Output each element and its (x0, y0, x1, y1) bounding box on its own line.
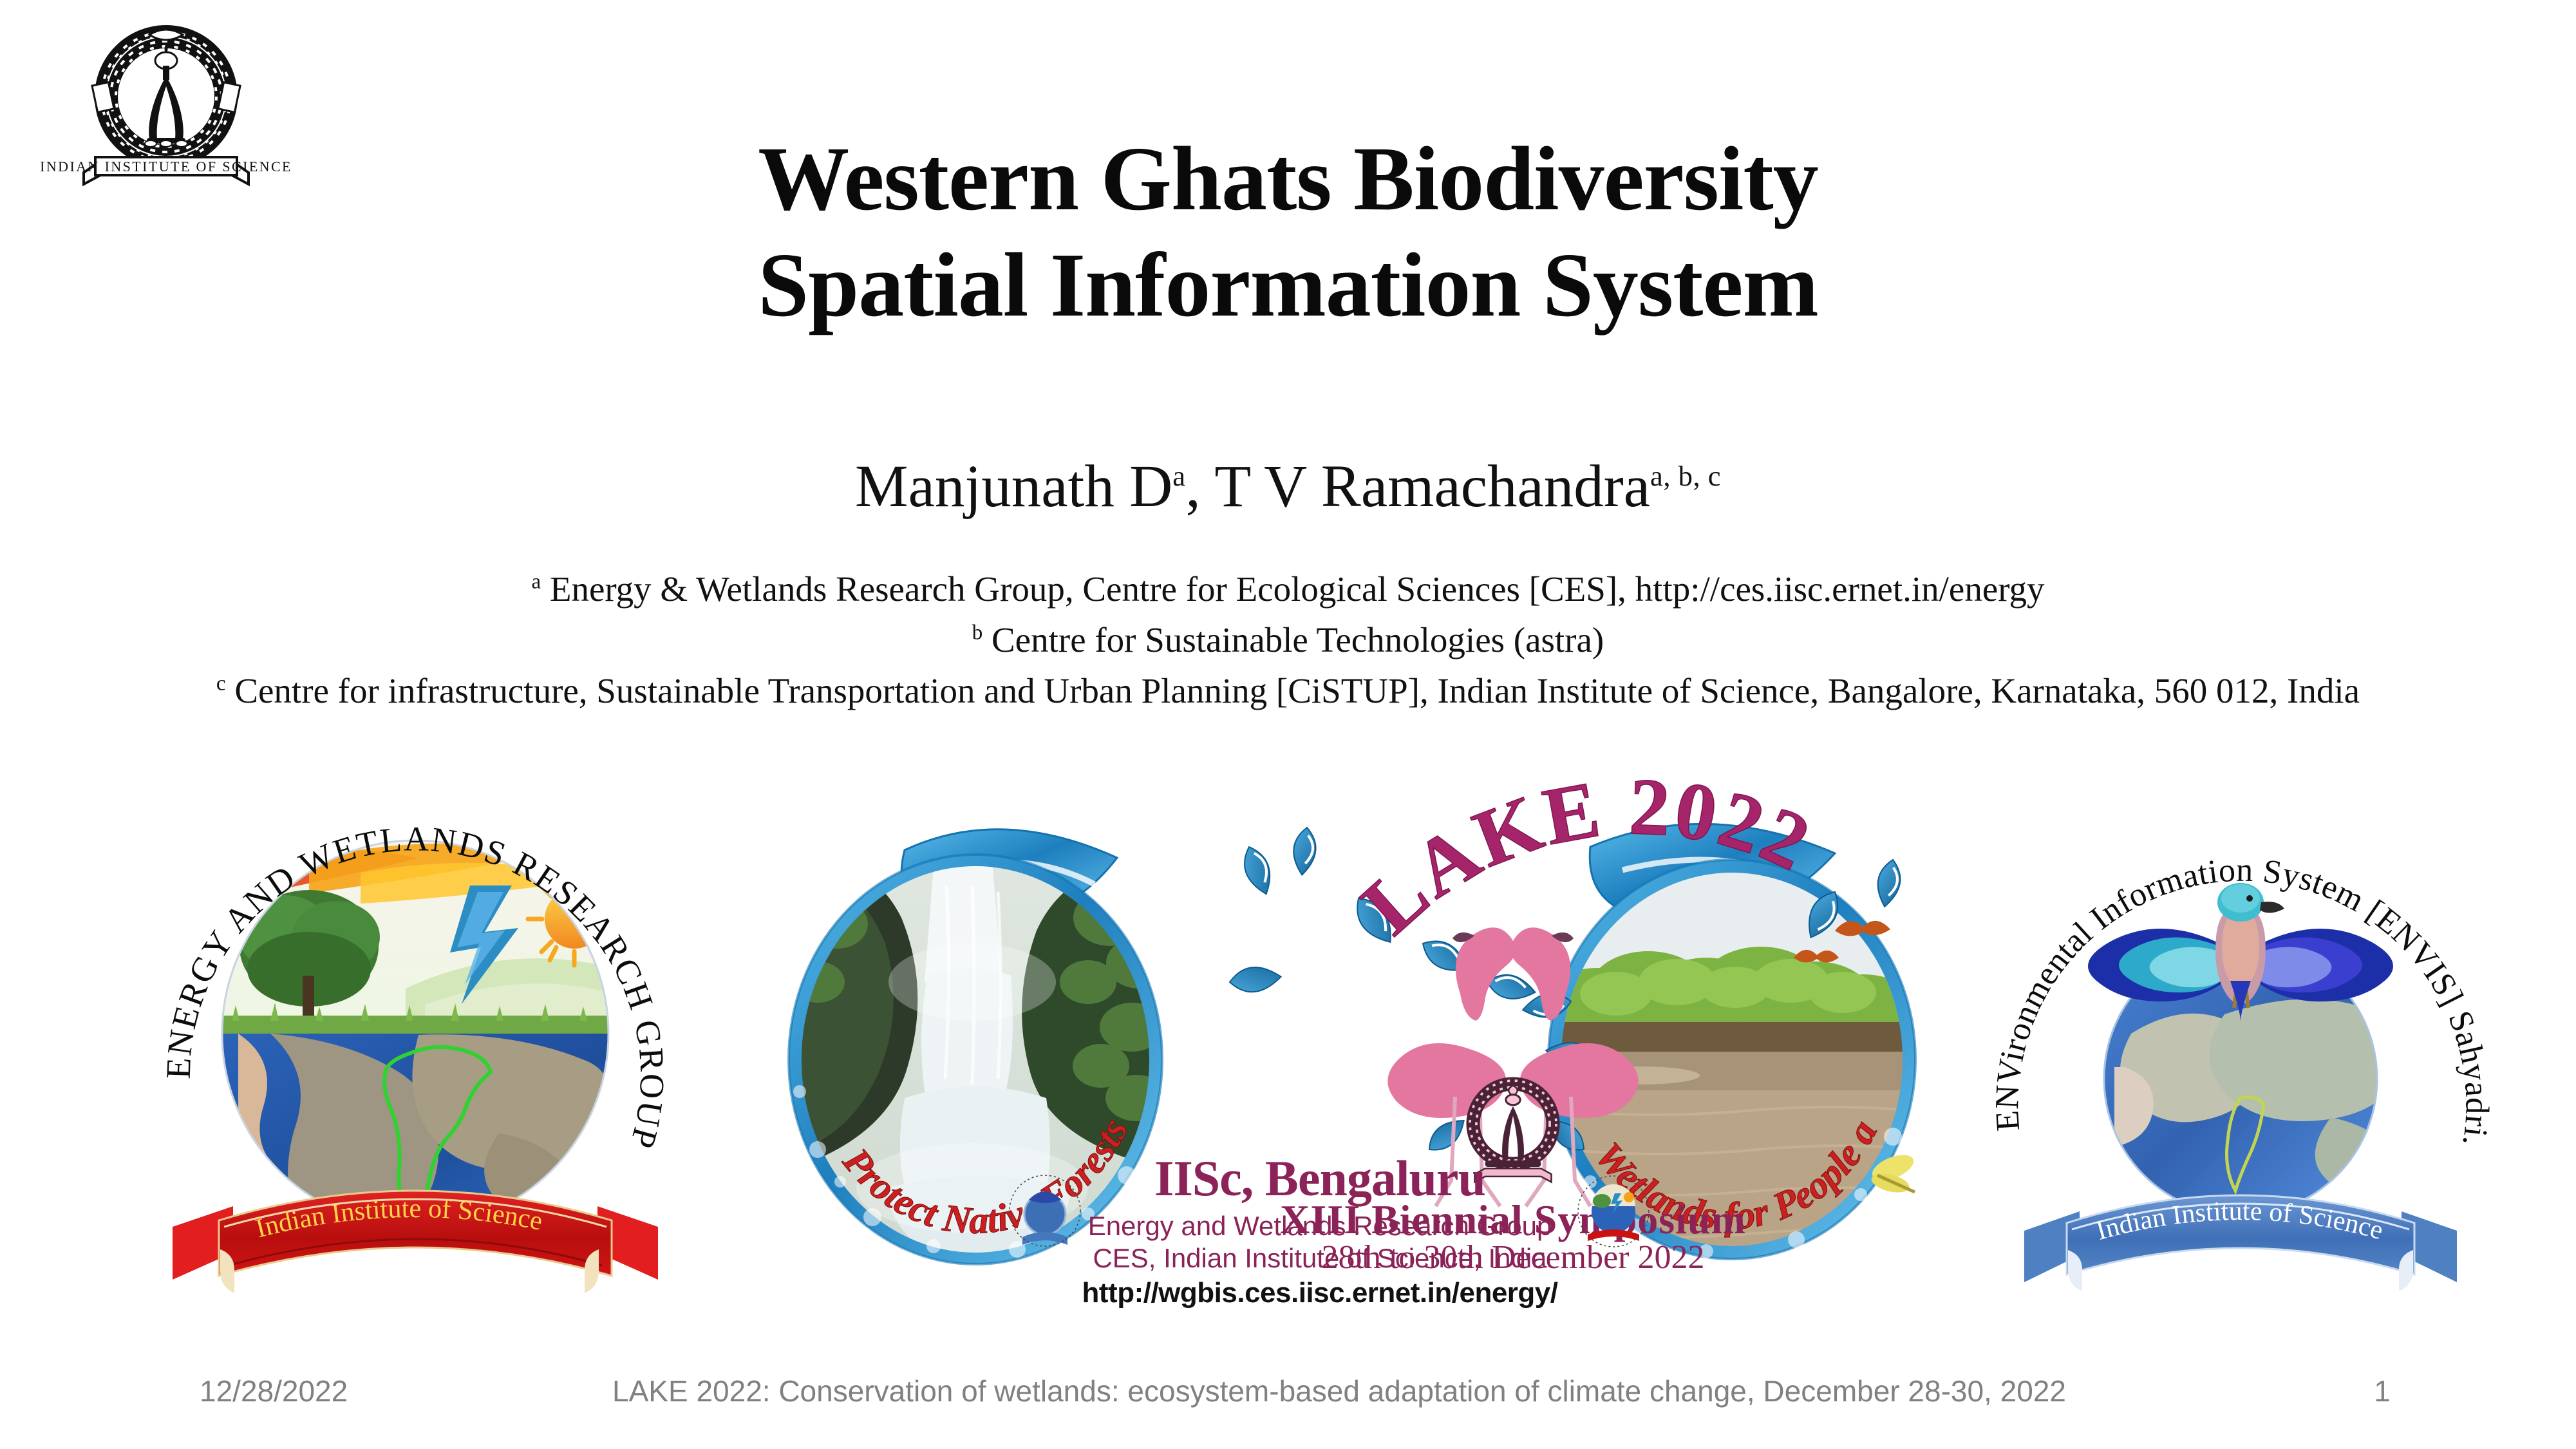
footer-date: 12/28/2022 (200, 1374, 348, 1408)
lake-url-text: http://wgbis.ces.iisc.ernet.in/energy/ (1062, 1277, 1577, 1309)
footer-page-number: 1 (2318, 1374, 2447, 1408)
lake-venue-text: IISc, Bengaluru (1062, 1150, 1577, 1207)
affiliations-block: a Energy & Wetlands Research Group, Cent… (0, 563, 2576, 717)
lake-org-line-1: Energy and Wetlands Research Group (1062, 1210, 1577, 1242)
slide-footer: 12/28/2022 LAKE 2022: Conservation of we… (0, 1374, 2576, 1419)
ewrg-logo: ENERGY AND WETLANDS RESEARCH GROUP ✳ CES… (148, 776, 682, 1311)
lake-2022-logo: Protect Native Forests for Water (740, 789, 1964, 1298)
ewrg-ribbon: Indian Institute of Science (173, 1191, 658, 1293)
footer-conference-text: LAKE 2022: Conservation of wetlands: eco… (567, 1374, 2112, 1408)
author-1-affiliation-marker: a (1172, 460, 1185, 492)
affiliation-b-marker: b (972, 621, 983, 645)
affiliation-b: b Centre for Sustainable Technologies (a… (0, 614, 2576, 665)
author-2-name: T V Ramachandra (1214, 453, 1650, 520)
authors-line: Manjunath Da, T V Ramachandraa, b, c (0, 454, 2576, 520)
authors-separator: , (1186, 453, 1215, 520)
lake-org-line-2: CES, Indian Institute of Science, India (1062, 1242, 1577, 1274)
affiliation-a-text: Energy & Wetlands Research Group, Centre… (541, 569, 2044, 609)
title-line-1: Western Ghats Biodiversity (0, 126, 2576, 232)
affiliation-c-marker: c (216, 672, 226, 696)
envis-ribbon: Indian Institute of Science (2024, 1195, 2457, 1291)
affiliation-c: c Centre for infrastructure, Sustainable… (0, 665, 2576, 716)
envis-mini-mark (1010, 1175, 1080, 1246)
affiliation-b-text: Centre for Sustainable Technologies (ast… (982, 620, 1604, 659)
affiliation-c-text: Centre for infrastructure, Sustainable T… (226, 671, 2360, 710)
ewrg-mini-mark (1577, 1175, 1650, 1247)
title-line-2: Spatial Information System (0, 232, 2576, 338)
affiliation-a: a Energy & Wetlands Research Group, Cent… (0, 563, 2576, 614)
affiliation-a-marker: a (531, 571, 541, 594)
page-title: Western Ghats Biodiversity Spatial Infor… (0, 126, 2576, 337)
author-2-affiliation-marker: a, b, c (1650, 460, 1721, 492)
author-1-name: Manjunath D (855, 453, 1172, 520)
logo-strip: ENERGY AND WETLANDS RESEARCH GROUP ✳ CES… (0, 776, 2576, 1311)
envis-logo: ENVironmental Information System [ENVIS]… (1970, 776, 2511, 1311)
